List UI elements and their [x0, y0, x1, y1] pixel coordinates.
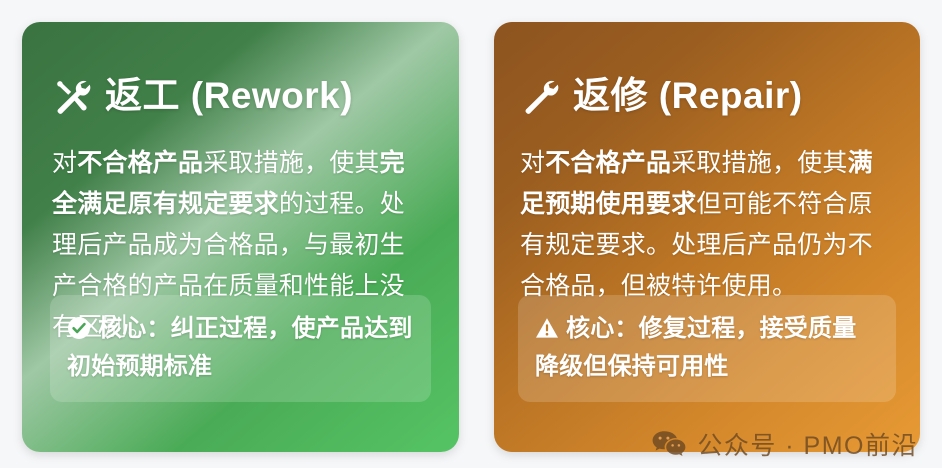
check-circle-icon: [67, 316, 91, 340]
card-repair-inner: 返修 (Repair) 对不合格产品采取措施，使其满足预期使用要求但可能不符合原…: [494, 22, 920, 452]
wrench-icon: [520, 76, 560, 116]
card-rework: 返工 (Rework) 对不合格产品采取措施，使其完全满足原有规定要求的过程。处…: [22, 22, 459, 452]
card-rework-highlight: 核心：纠正过程，使产品达到初始预期标准: [50, 295, 431, 402]
card-repair-highlight-text: 核心：修复过程，接受质量降级但保持可用性: [535, 315, 856, 380]
card-rework-title-text: 返工 (Rework): [105, 76, 353, 117]
diagram-canvas: 返工 (Rework) 对不合格产品采取措施，使其完全满足原有规定要求的过程。处…: [0, 0, 942, 468]
card-repair: 返修 (Repair) 对不合格产品采取措施，使其满足预期使用要求但可能不符合原…: [494, 22, 920, 452]
tools-icon: [52, 76, 92, 116]
watermark: 公众号 · PMO前沿: [652, 426, 918, 462]
watermark-text: 公众号 · PMO前沿: [697, 426, 918, 462]
card-repair-title: 返修 (Repair): [520, 76, 894, 117]
card-repair-body: 对不合格产品采取措施，使其满足预期使用要求但可能不符合原有规定要求。处理后产品仍…: [520, 143, 894, 307]
card-rework-title: 返工 (Rework): [52, 76, 429, 117]
card-repair-title-text: 返修 (Repair): [573, 76, 803, 117]
card-repair-highlight: 核心：修复过程，接受质量降级但保持可用性: [518, 295, 896, 402]
warning-triangle-icon: [535, 316, 559, 340]
wechat-icon: [652, 430, 686, 458]
card-rework-highlight-text: 核心：纠正过程，使产品达到初始预期标准: [67, 315, 413, 380]
card-rework-inner: 返工 (Rework) 对不合格产品采取措施，使其完全满足原有规定要求的过程。处…: [22, 22, 459, 452]
